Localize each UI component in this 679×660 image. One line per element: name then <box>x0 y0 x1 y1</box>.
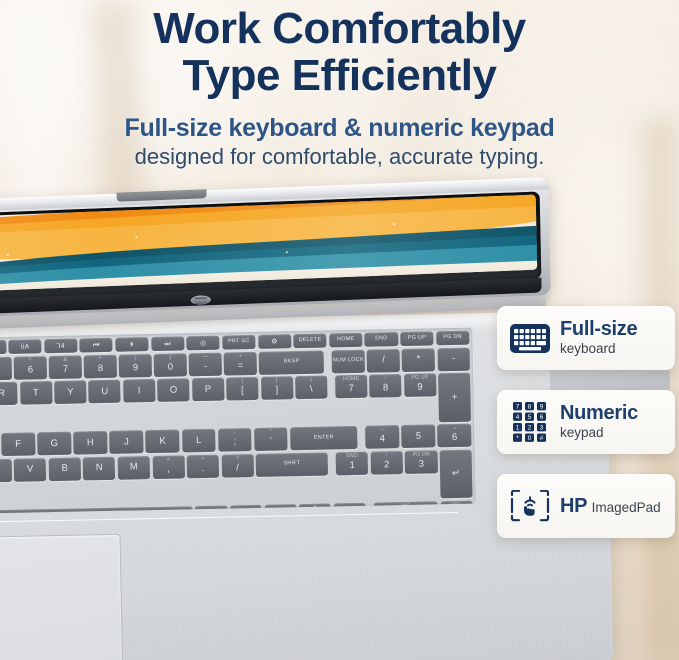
card-title: HP <box>560 495 587 517</box>
svg-text:7: 7 <box>516 404 520 411</box>
key-secondary-label: ↑ <box>369 376 401 382</box>
card-title: Numeric <box>560 402 638 424</box>
feature-card-full-size-keyboard[interactable]: Full-size keyboard <box>497 306 675 370</box>
key-label: 7 <box>63 364 68 374</box>
key-b[interactable]: B <box>48 457 81 481</box>
card-text: Numeric keypad <box>560 403 665 442</box>
key-label: 5 <box>416 431 421 441</box>
svg-text:9: 9 <box>540 404 544 411</box>
key-bksp[interactable]: BKSP <box>259 350 324 374</box>
key-secondary-label: > <box>187 456 219 462</box>
key-label: H <box>87 438 94 448</box>
key-7[interactable]: HOME7 <box>335 375 367 399</box>
svg-text:#: # <box>540 435 544 442</box>
copy-block: Work Comfortably Type Efficiently Full-s… <box>0 0 679 169</box>
key-label: / <box>236 463 239 473</box>
function-key-icon-9[interactable]: ◎ <box>186 336 219 351</box>
key--[interactable]: —- <box>189 352 222 376</box>
key-4[interactable]: ←4 <box>365 425 399 449</box>
headline-line-1: Work Comfortably <box>0 0 679 52</box>
key-label: 8 <box>383 384 388 394</box>
key-label: 9 <box>417 383 422 393</box>
key-;[interactable]: :; <box>218 428 252 452</box>
key-secondary-label: ( <box>119 356 152 362</box>
key-secondary-label: PG DN <box>405 452 437 458</box>
key-secondary-label: " <box>254 429 288 435</box>
key-secondary-label: HOME <box>335 377 367 383</box>
key-label: ⏵ <box>130 341 134 348</box>
numeric-keypad-icon: 789 456 123 *0# <box>509 401 551 443</box>
key-label: 9 <box>133 363 138 373</box>
key-][interactable]: }] <box>261 376 293 400</box>
key-secondary-label: END <box>336 453 368 459</box>
key-label: ↵ <box>452 469 460 479</box>
function-key-pg-dn[interactable]: PG DN <box>436 331 469 346</box>
svg-text:0: 0 <box>528 435 532 442</box>
key-label: I <box>138 386 141 396</box>
key-label: G <box>50 439 58 449</box>
headline: Work Comfortably Type Efficiently <box>0 0 679 99</box>
feature-graphic: Work Comfortably Type Efficiently Full-s… <box>0 0 679 660</box>
key-label: ⚙ <box>271 338 278 345</box>
function-key-home[interactable]: HOME <box>329 333 362 348</box>
key-label: DELETE <box>299 338 322 344</box>
key-label: 6 <box>452 433 457 443</box>
card-subtitle: keyboard <box>560 341 616 356</box>
key-secondary-label: % <box>0 358 12 364</box>
key-/[interactable]: / <box>367 349 400 373</box>
key-=[interactable]: += <box>224 351 257 375</box>
key-7[interactable]: &7 <box>49 355 82 379</box>
card-subtitle: ImagedPad <box>592 500 661 515</box>
card-text: Full-size keyboard <box>560 319 665 358</box>
function-key-pg-up[interactable]: PG UP <box>400 331 433 346</box>
key-secondary-label: → <box>438 426 472 432</box>
key-label: PRT SC <box>228 339 249 345</box>
key-label: ⏭ <box>164 340 171 347</box>
key-label: B <box>61 464 68 474</box>
key-label: M <box>130 463 138 473</box>
key-9[interactable]: PG UP9 <box>404 373 436 397</box>
key-label: ' <box>270 437 272 447</box>
key-label: PG UP <box>408 336 426 342</box>
key-label: L <box>196 436 201 446</box>
feature-card-hp-imagedpad[interactable]: HP ImagedPad <box>497 474 675 538</box>
key-.[interactable]: >. <box>187 454 220 478</box>
key-label: R <box>0 389 5 399</box>
key-p[interactable]: P <box>192 378 224 402</box>
key-9[interactable]: (9 <box>119 354 152 378</box>
key-secondary-label: } <box>261 378 293 384</box>
key-label: ; <box>233 438 236 448</box>
key-secondary-label: ^ <box>14 358 47 364</box>
function-key-icon-8[interactable]: ⏭ <box>151 336 184 351</box>
key-↵[interactable]: ↵ <box>440 449 473 498</box>
card-subtitle: keypad <box>560 425 604 440</box>
function-key-icon-4[interactable]: ὐA <box>8 339 41 354</box>
key-n[interactable]: N <box>83 456 116 480</box>
key-secondary-label: & <box>49 357 82 363</box>
key-secondary-label: : <box>218 430 252 436</box>
key-label: NUM LOCK <box>333 358 364 364</box>
key-5[interactable]: %5 <box>0 356 12 380</box>
subheadline-bold: Full-size keyboard & numeric keypad <box>0 114 679 142</box>
key-j[interactable]: J <box>109 430 143 454</box>
key-label: / <box>382 356 385 366</box>
key-6[interactable]: ^6 <box>14 356 47 380</box>
function-key-prt-sc[interactable]: PRT SC <box>222 335 255 350</box>
key-label: O <box>170 385 178 395</box>
svg-text:8: 8 <box>528 404 532 411</box>
key-g[interactable]: G <box>37 432 71 456</box>
key-+[interactable]: + <box>438 373 471 422</box>
card-text: HP ImagedPad <box>560 496 661 517</box>
key-secondary-label: * <box>84 356 117 362</box>
key-label: P <box>205 385 212 395</box>
trackpad <box>0 534 123 660</box>
key-label: PG DN <box>443 335 462 341</box>
key-label: Y <box>67 387 74 397</box>
key-0[interactable]: )0 <box>154 353 187 377</box>
keyboard: ☼⌨ὐ7ὐ9ὐAἺ4⏮⏵⏭◎PRT SC⚙DELETEHOMEENDPG UPP… <box>0 328 476 516</box>
key-o[interactable]: O <box>157 378 189 402</box>
key-label: BKSP <box>284 359 300 365</box>
key-secondary-label: ? <box>221 456 253 462</box>
keyboard-icon <box>509 317 551 359</box>
key-label: ENTER <box>314 435 334 441</box>
key-label: * <box>417 355 421 365</box>
subheadline-regular: designed for comfortable, accurate typin… <box>0 144 679 169</box>
key-2[interactable]: ↓2 <box>370 451 403 475</box>
key-label: ◎ <box>200 339 206 346</box>
key-label: - <box>452 354 455 364</box>
key-h[interactable]: H <box>73 431 107 455</box>
key-label: HOME <box>337 337 354 343</box>
key-secondary-label: | <box>295 378 327 384</box>
key-label: SHIFT <box>283 461 300 467</box>
function-key-delete[interactable]: DELETE <box>293 334 326 349</box>
key-label: - <box>204 362 207 372</box>
key-m[interactable]: M <box>118 456 151 480</box>
key--[interactable]: - <box>437 347 470 371</box>
key-label: , <box>167 464 170 474</box>
key-'[interactable]: "' <box>254 427 288 451</box>
svg-text:5: 5 <box>528 414 532 421</box>
key-label: 2 <box>384 460 389 470</box>
key-secondary-label: PG UP <box>404 375 436 381</box>
key-3[interactable]: PG DN3 <box>405 450 438 474</box>
headline-line-2: Type Efficiently <box>0 52 679 99</box>
key-label: + <box>452 392 458 402</box>
key-label: V <box>27 465 34 475</box>
key-label: 3 <box>419 459 424 469</box>
key-label: 6 <box>28 365 33 375</box>
svg-text:2: 2 <box>528 425 532 432</box>
key-shift[interactable]: SHIFT <box>256 452 329 476</box>
key-label: 4 <box>380 435 385 445</box>
feature-card-numeric-keypad[interactable]: 789 456 123 *0# Numeric keypad <box>497 390 675 454</box>
key-secondary-label: { <box>226 379 258 385</box>
function-key-icon-5[interactable]: Ἲ4 <box>44 339 77 354</box>
key-c[interactable]: C <box>0 458 12 482</box>
key-label: J <box>124 437 129 447</box>
key-i[interactable]: I <box>123 379 155 403</box>
key-u[interactable]: U <box>89 380 121 404</box>
function-key-icon-7[interactable]: ⏵ <box>115 337 148 352</box>
key-8[interactable]: *8 <box>84 354 117 378</box>
key-l[interactable]: L <box>182 429 216 453</box>
function-key-icon-3[interactable]: ὐ9 <box>0 340 6 355</box>
key-*[interactable]: * <box>402 348 435 372</box>
key-[[interactable]: {[ <box>226 377 258 401</box>
key-label: . <box>202 464 205 474</box>
key-k[interactable]: K <box>146 430 180 454</box>
key-8[interactable]: ↑8 <box>369 374 401 398</box>
key-secondary-label: < <box>152 457 184 463</box>
key-label: K <box>159 437 166 447</box>
key-label: N <box>96 463 103 473</box>
key-f[interactable]: F <box>1 432 35 456</box>
card-title: Full-size <box>560 318 637 340</box>
key-secondary-label: + <box>224 353 257 359</box>
key-t[interactable]: T <box>20 381 52 405</box>
key-label: [ <box>241 386 244 396</box>
key-5[interactable]: 5 <box>401 424 435 448</box>
key-v[interactable]: V <box>14 458 47 482</box>
function-key-icon-6[interactable]: ⏮ <box>80 338 113 353</box>
key-label: = <box>238 361 244 371</box>
key-/[interactable]: ?/ <box>221 454 254 478</box>
key-secondary-label: ) <box>154 355 187 361</box>
key-label: U <box>101 387 108 397</box>
svg-text:4: 4 <box>516 414 520 421</box>
key-6[interactable]: →6 <box>438 424 472 448</box>
key-label: 1 <box>349 461 354 471</box>
key-\[interactable]: |\ <box>295 376 327 400</box>
key-num-lock[interactable]: NUM LOCK <box>332 349 365 373</box>
key-r[interactable]: R <box>0 382 18 406</box>
svg-text:6: 6 <box>540 414 544 421</box>
key-y[interactable]: Y <box>54 380 86 404</box>
key-label: END <box>375 337 387 343</box>
key-label: T <box>33 388 39 398</box>
key-label: 7 <box>348 384 353 394</box>
key-1[interactable]: END1 <box>336 451 369 475</box>
key-secondary-label: ↓ <box>370 453 402 459</box>
svg-text:3: 3 <box>540 425 544 432</box>
feature-card-list: Full-size keyboard <box>497 306 679 558</box>
function-key-icon-11[interactable]: ⚙ <box>258 334 291 349</box>
key-label: ] <box>275 386 278 396</box>
key-secondary-label: ← <box>365 427 399 433</box>
key-label: ὐA <box>21 343 30 350</box>
key-secondary-label: — <box>189 354 222 360</box>
key-label: F <box>15 439 21 449</box>
key-,[interactable]: <, <box>152 455 185 479</box>
touchpad-tap-icon <box>509 485 551 527</box>
key-label: 0 <box>168 362 173 372</box>
svg-text:1: 1 <box>516 425 520 432</box>
function-key-end[interactable]: END <box>365 332 398 347</box>
key-label: ⏮ <box>93 342 100 349</box>
key-label: Ἲ4 <box>56 342 64 349</box>
key-label: 8 <box>98 364 103 374</box>
key-enter[interactable]: ENTER <box>290 426 358 450</box>
key-label: \ <box>310 385 313 395</box>
